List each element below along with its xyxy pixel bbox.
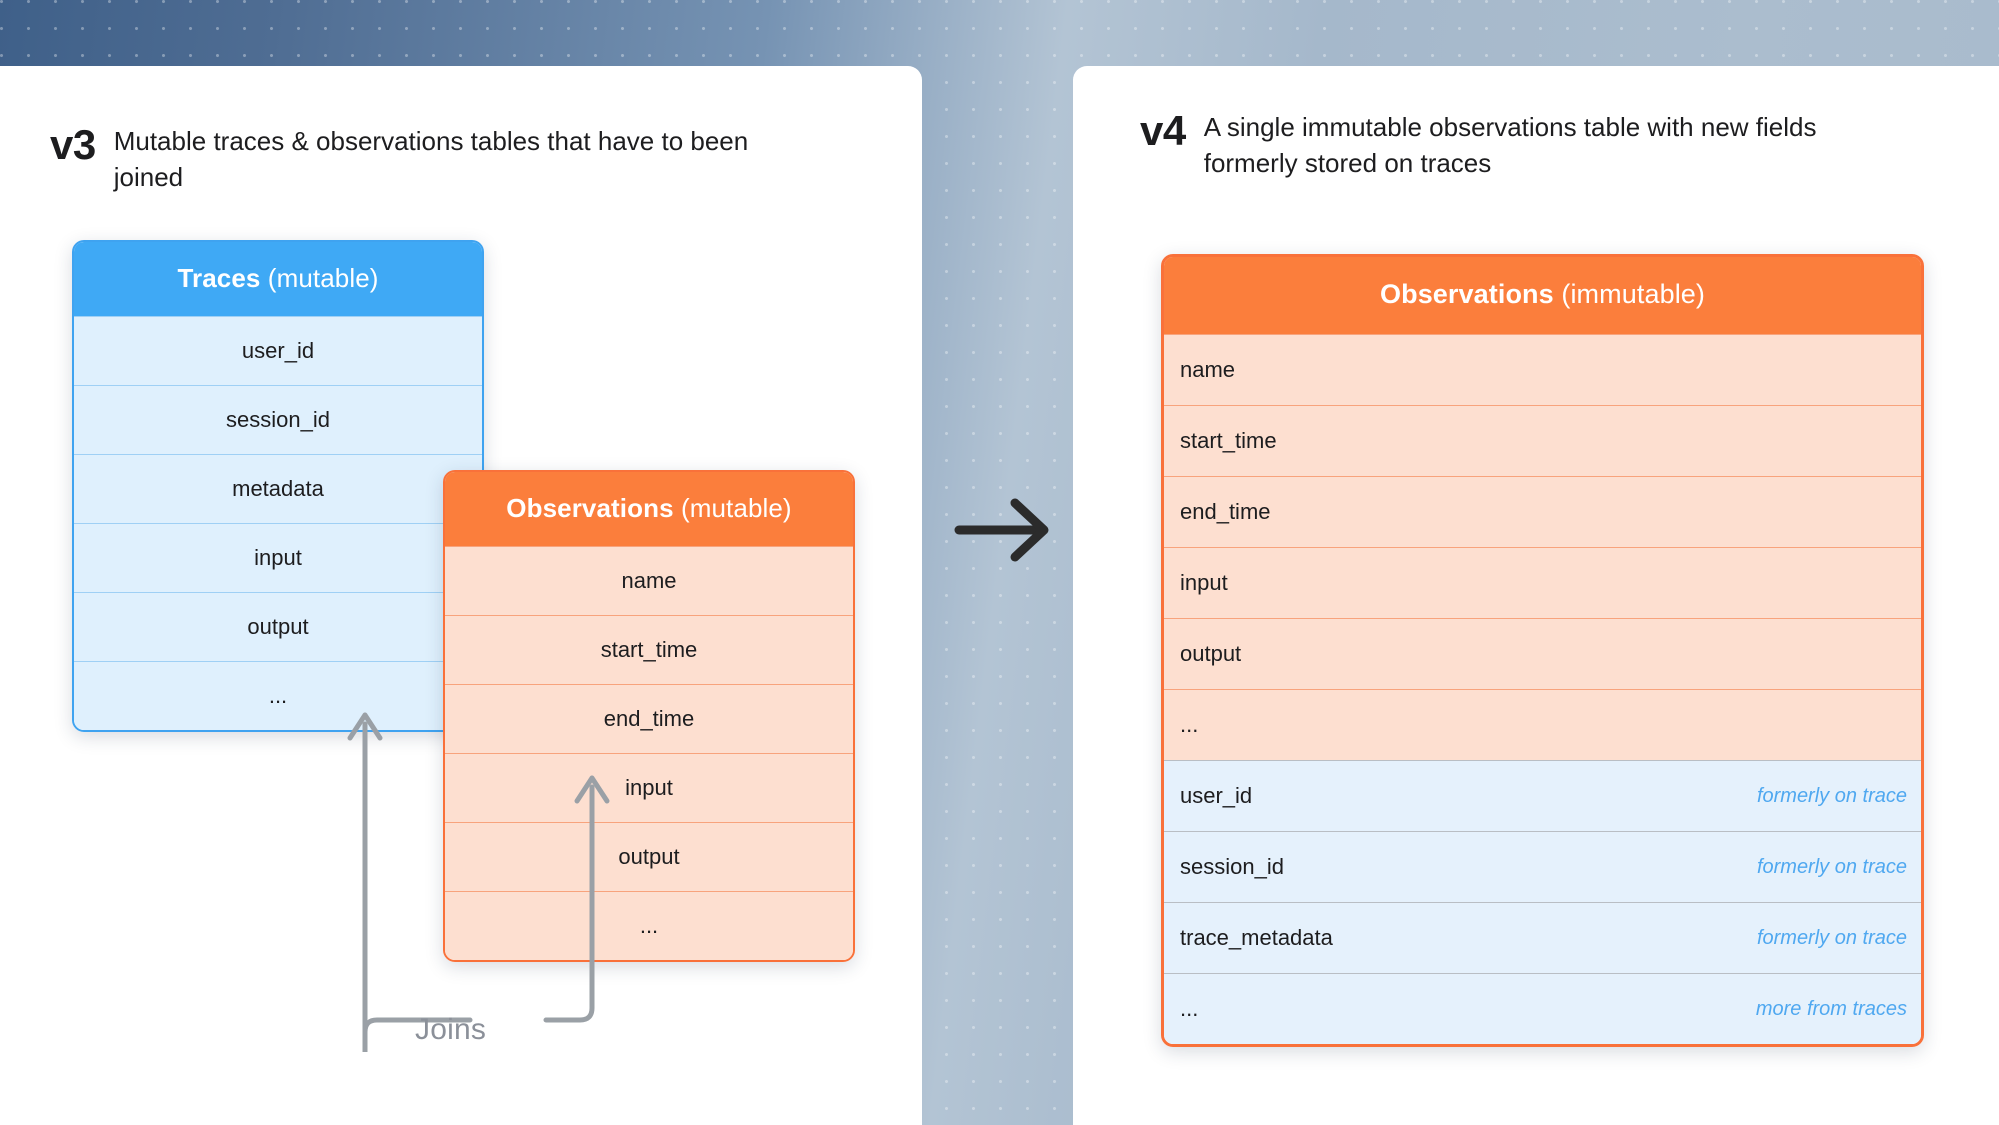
- subtitle-v4: A single immutable observations table wi…: [1204, 110, 1864, 182]
- heading-v3: v3 Mutable traces & observations tables …: [50, 124, 814, 196]
- joins-arrows-icon: [250, 712, 670, 1052]
- field-name: ...: [1180, 996, 1198, 1022]
- table-observations-immutable-title: Observations: [1380, 279, 1554, 309]
- table-row: session_id: [74, 385, 482, 454]
- field-name: start_time: [1180, 428, 1277, 454]
- table-row: ...: [1164, 689, 1921, 760]
- table-row: trace_metadata formerly on trace: [1164, 902, 1921, 973]
- field-name: output: [1180, 641, 1241, 667]
- table-row: input: [1164, 547, 1921, 618]
- table-traces-header: Traces (mutable): [74, 242, 482, 316]
- field-name: user_id: [1180, 783, 1252, 809]
- field-name: ...: [1180, 712, 1198, 738]
- table-row: name: [445, 546, 853, 615]
- table-row: user_id: [74, 316, 482, 385]
- table-row: session_id formerly on trace: [1164, 831, 1921, 902]
- table-traces-subtitle: (mutable): [260, 263, 378, 293]
- field-note: formerly on trace: [1757, 927, 1907, 950]
- table-row: user_id formerly on trace: [1164, 760, 1921, 831]
- table-row: start_time: [445, 615, 853, 684]
- field-name: input: [1180, 570, 1228, 596]
- joins-label: Joins: [415, 1013, 486, 1047]
- table-row: ... more from traces: [1164, 973, 1921, 1044]
- field-name: trace_metadata: [1180, 925, 1333, 951]
- field-note: formerly on trace: [1757, 856, 1907, 879]
- table-observations-immutable-header: Observations (immutable): [1164, 257, 1921, 334]
- table-row: end_time: [1164, 476, 1921, 547]
- field-name: session_id: [1180, 854, 1284, 880]
- arrow-right-icon: [951, 490, 1061, 570]
- field-name: name: [1180, 357, 1235, 383]
- table-row: input: [74, 523, 482, 592]
- subtitle-v3: Mutable traces & observations tables tha…: [114, 124, 814, 196]
- table-observations-mutable-subtitle: (mutable): [674, 493, 792, 523]
- table-row: name: [1164, 334, 1921, 405]
- field-note: more from traces: [1756, 998, 1907, 1021]
- table-row: metadata: [74, 454, 482, 523]
- table-observations-immutable: Observations (immutable) name start_time…: [1161, 254, 1924, 1047]
- version-label-v3: v3: [50, 124, 96, 166]
- heading-v4: v4 A single immutable observations table…: [1140, 110, 1864, 182]
- joins-connector: [250, 712, 670, 1052]
- table-traces-title: Traces: [177, 263, 260, 293]
- table-traces: Traces (mutable) user_id session_id meta…: [72, 240, 484, 732]
- field-note: formerly on trace: [1757, 785, 1907, 808]
- table-observations-mutable-title: Observations: [506, 493, 673, 523]
- table-row: output: [1164, 618, 1921, 689]
- table-row: output: [74, 592, 482, 661]
- version-label-v4: v4: [1140, 110, 1186, 152]
- table-observations-immutable-subtitle: (immutable): [1554, 279, 1705, 309]
- table-row: start_time: [1164, 405, 1921, 476]
- field-name: end_time: [1180, 499, 1271, 525]
- table-observations-mutable-header: Observations (mutable): [445, 472, 853, 546]
